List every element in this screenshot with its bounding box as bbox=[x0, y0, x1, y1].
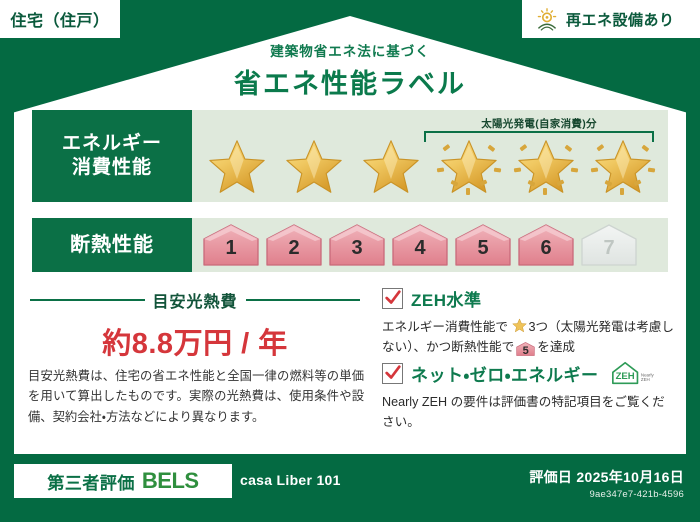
insulation-performance-key: 断熱性能 bbox=[32, 218, 192, 272]
zeh-body-part1: エネルギー消費性能で bbox=[382, 320, 508, 334]
cost-value: 約8.8万円 / 年 bbox=[30, 320, 360, 362]
building-type-text: 住宅（住戸） bbox=[10, 7, 109, 31]
energy-performance-label: 住宅（住戸） 再エネ設備あり 建築物省エネ法に基づく 省エネ性能ラベル エネルギ… bbox=[0, 0, 700, 522]
zeh-standard-checkbox[interactable] bbox=[382, 288, 403, 309]
grade-number: 1 bbox=[225, 237, 236, 267]
grade-number: 6 bbox=[540, 237, 551, 267]
title-subtitle: 建築物省エネ法に基づく bbox=[0, 40, 700, 60]
star-2 bbox=[280, 136, 348, 198]
inline-grade-number: 5 bbox=[516, 341, 535, 359]
bels-jp-label: 第三者評価 bbox=[47, 469, 135, 494]
insulation-grade-5: 5 bbox=[454, 223, 512, 267]
insulation-grade-3: 3 bbox=[328, 223, 386, 267]
star-icon bbox=[593, 138, 653, 196]
energy-performance-key: エネルギー 消費性能 bbox=[32, 110, 192, 202]
insulation-grade-1: 1 bbox=[202, 223, 260, 267]
grade-number: 5 bbox=[477, 237, 488, 267]
zeh-standard-section: ZEH水準 エネルギー消費性能で 3つ（太陽光発電は考慮しない）、かつ断熱性能で… bbox=[382, 286, 674, 358]
zeh-standard-title: ZEH水準 bbox=[411, 286, 482, 311]
solar-bracket-label: 太陽光発電(自家消費)分 bbox=[420, 116, 658, 131]
insulation-grade-7-inactive: 7 bbox=[580, 223, 638, 267]
evaluation-id: 9ae347e7-421b-4596 bbox=[590, 489, 684, 500]
star-icon bbox=[512, 318, 527, 333]
net-zero-title: ネット・ゼロ・エネルギー bbox=[411, 361, 599, 386]
renewable-badge-label: 再エネ設備あり bbox=[566, 9, 675, 30]
evaluation-date: 評価日 2025年10月16日 bbox=[529, 467, 684, 487]
insulation-grade-4: 4 bbox=[391, 223, 449, 267]
insulation-grade-6: 6 bbox=[517, 223, 575, 267]
svg-text:ZEH: ZEH bbox=[640, 377, 649, 382]
grade-number: 2 bbox=[288, 237, 299, 267]
cost-disclaimer: 目安光熱費は、住宅の省エネ性能と全国一律の燃料等の単価を用いて算出したものです。… bbox=[28, 366, 364, 427]
insulation-grade-2: 2 bbox=[265, 223, 323, 267]
energy-performance-row: エネルギー 消費性能 太陽光発電(自家消費)分 bbox=[32, 110, 668, 202]
energy-key-line1: エネルギー bbox=[62, 132, 162, 156]
label-title: 建築物省エネ法に基づく 省エネ性能ラベル bbox=[0, 40, 700, 101]
check-icon bbox=[384, 289, 402, 307]
star-icon bbox=[516, 138, 576, 196]
insulation-grade-scale: 1 2 3 bbox=[202, 222, 658, 268]
star-rating bbox=[198, 136, 662, 198]
star-6-solar bbox=[589, 136, 657, 198]
grade-number: 7 bbox=[603, 237, 614, 267]
energy-performance-value: 太陽光発電(自家消費)分 bbox=[192, 110, 668, 202]
net-zero-body: Nearly ZEH の要件は評価書の特記項目をご覧ください。 bbox=[382, 392, 674, 433]
estimated-utility-cost: 目安光熱費 約8.8万円 / 年 bbox=[30, 288, 360, 362]
zeh-standard-header: ZEH水準 bbox=[382, 286, 674, 311]
svg-text:ZEH: ZEH bbox=[615, 371, 634, 382]
insulation-performance-value: 1 2 3 bbox=[192, 218, 668, 272]
star-icon bbox=[439, 138, 499, 196]
zeh-body-part3: を達成 bbox=[537, 340, 575, 354]
star-icon bbox=[207, 138, 267, 196]
sun-solar-icon bbox=[534, 6, 560, 32]
star-5-solar bbox=[512, 136, 580, 198]
net-zero-energy-section: ネット・ゼロ・エネルギー ZEH Nearly ZEH Nearly ZEH の… bbox=[382, 360, 674, 433]
star-3 bbox=[357, 136, 425, 198]
star-icon bbox=[361, 138, 421, 196]
building-type-tag: 住宅（住戸） bbox=[0, 0, 120, 38]
star-1 bbox=[203, 136, 271, 198]
grade-number: 3 bbox=[351, 237, 362, 267]
cost-heading-text: 目安光熱費 bbox=[153, 288, 238, 312]
net-zero-header: ネット・ゼロ・エネルギー ZEH Nearly ZEH bbox=[382, 360, 674, 386]
rule-right bbox=[246, 299, 361, 301]
bels-en-label: BELS bbox=[142, 468, 199, 494]
net-zero-checkbox[interactable] bbox=[382, 363, 403, 384]
zeh-standard-body: エネルギー消費性能で 3つ（太陽光発電は考慮しない）、かつ断熱性能で 5 を達成 bbox=[382, 317, 674, 358]
inline-house-badge-5: 5 bbox=[516, 341, 535, 357]
bels-third-party-badge: 第三者評価 BELS bbox=[14, 464, 232, 498]
insulation-performance-row: 断熱性能 1 2 bbox=[32, 218, 668, 272]
energy-key-line2: 消費性能 bbox=[72, 156, 152, 180]
rule-left bbox=[30, 299, 145, 301]
check-icon bbox=[384, 364, 402, 382]
renewable-equipment-badge: 再エネ設備あり bbox=[522, 0, 700, 38]
star-icon bbox=[284, 138, 344, 196]
star-4-solar bbox=[435, 136, 503, 198]
zeh-logo-icon: ZEH Nearly ZEH bbox=[610, 360, 654, 386]
title-main: 省エネ性能ラベル bbox=[0, 62, 700, 101]
grade-number: 4 bbox=[414, 237, 425, 267]
insulation-key-label: 断熱性能 bbox=[70, 233, 154, 258]
building-name: casa Liber 101 bbox=[240, 472, 341, 488]
cost-heading: 目安光熱費 bbox=[30, 288, 360, 312]
